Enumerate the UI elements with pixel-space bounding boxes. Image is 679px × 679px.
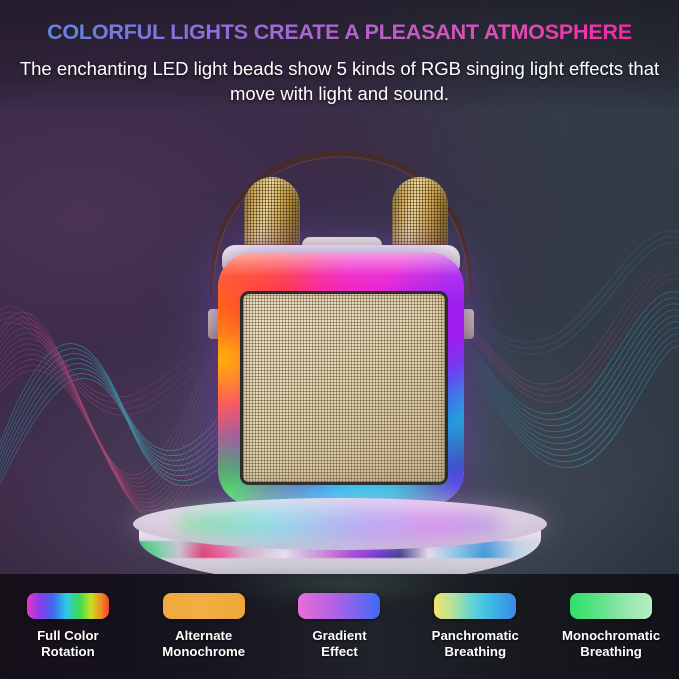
legend-item-gradient-effect[interactable]: Gradient Effect: [272, 574, 408, 679]
legend-item-full-color-rotation[interactable]: Full Color Rotation: [0, 574, 136, 679]
legend-label-monochromatic-breathing: Monochromatic Breathing: [562, 628, 660, 660]
speaker-mesh-grille: [240, 291, 448, 485]
legend-item-alternate-monochrome[interactable]: Alternate Monochrome: [136, 574, 272, 679]
legend-label-panchromatic-breathing: Panchromatic Breathing: [432, 628, 519, 660]
swatch-alternate-monochrome: [163, 593, 245, 619]
mic-mesh-head-icon: [244, 177, 300, 251]
product-photo: COLORFUL LIGHTS CREATE A PLEASANT ATMOSP…: [0, 0, 679, 574]
legend-label-gradient-effect: Gradient Effect: [312, 628, 366, 660]
pedestal-rgb-glow: [173, 504, 507, 544]
swatch-gradient-effect: [298, 593, 380, 619]
swatch-full-color-rotation: [27, 593, 109, 619]
swatch-monochromatic-breathing: [570, 593, 652, 619]
product-feature-image: COLORFUL LIGHTS CREATE A PLEASANT ATMOSP…: [0, 0, 679, 679]
legend-item-list: Full Color Rotation Alternate Monochrome…: [0, 574, 679, 679]
legend-item-panchromatic-breathing[interactable]: Panchromatic Breathing: [407, 574, 543, 679]
page-title: COLORFUL LIGHTS CREATE A PLEASANT ATMOSP…: [0, 20, 679, 45]
page-subtitle: The enchanting LED light beads show 5 ki…: [0, 56, 679, 106]
light-effect-legend: Full Color Rotation Alternate Monochrome…: [0, 574, 679, 679]
swatch-panchromatic-breathing: [434, 593, 516, 619]
karaoke-speaker: [196, 145, 486, 545]
legend-label-alternate-monochrome: Alternate Monochrome: [162, 628, 245, 660]
legend-item-monochromatic-breathing[interactable]: Monochromatic Breathing: [543, 574, 679, 679]
mic-mesh-head-icon: [392, 177, 448, 251]
legend-label-full-color-rotation: Full Color Rotation: [37, 628, 99, 660]
